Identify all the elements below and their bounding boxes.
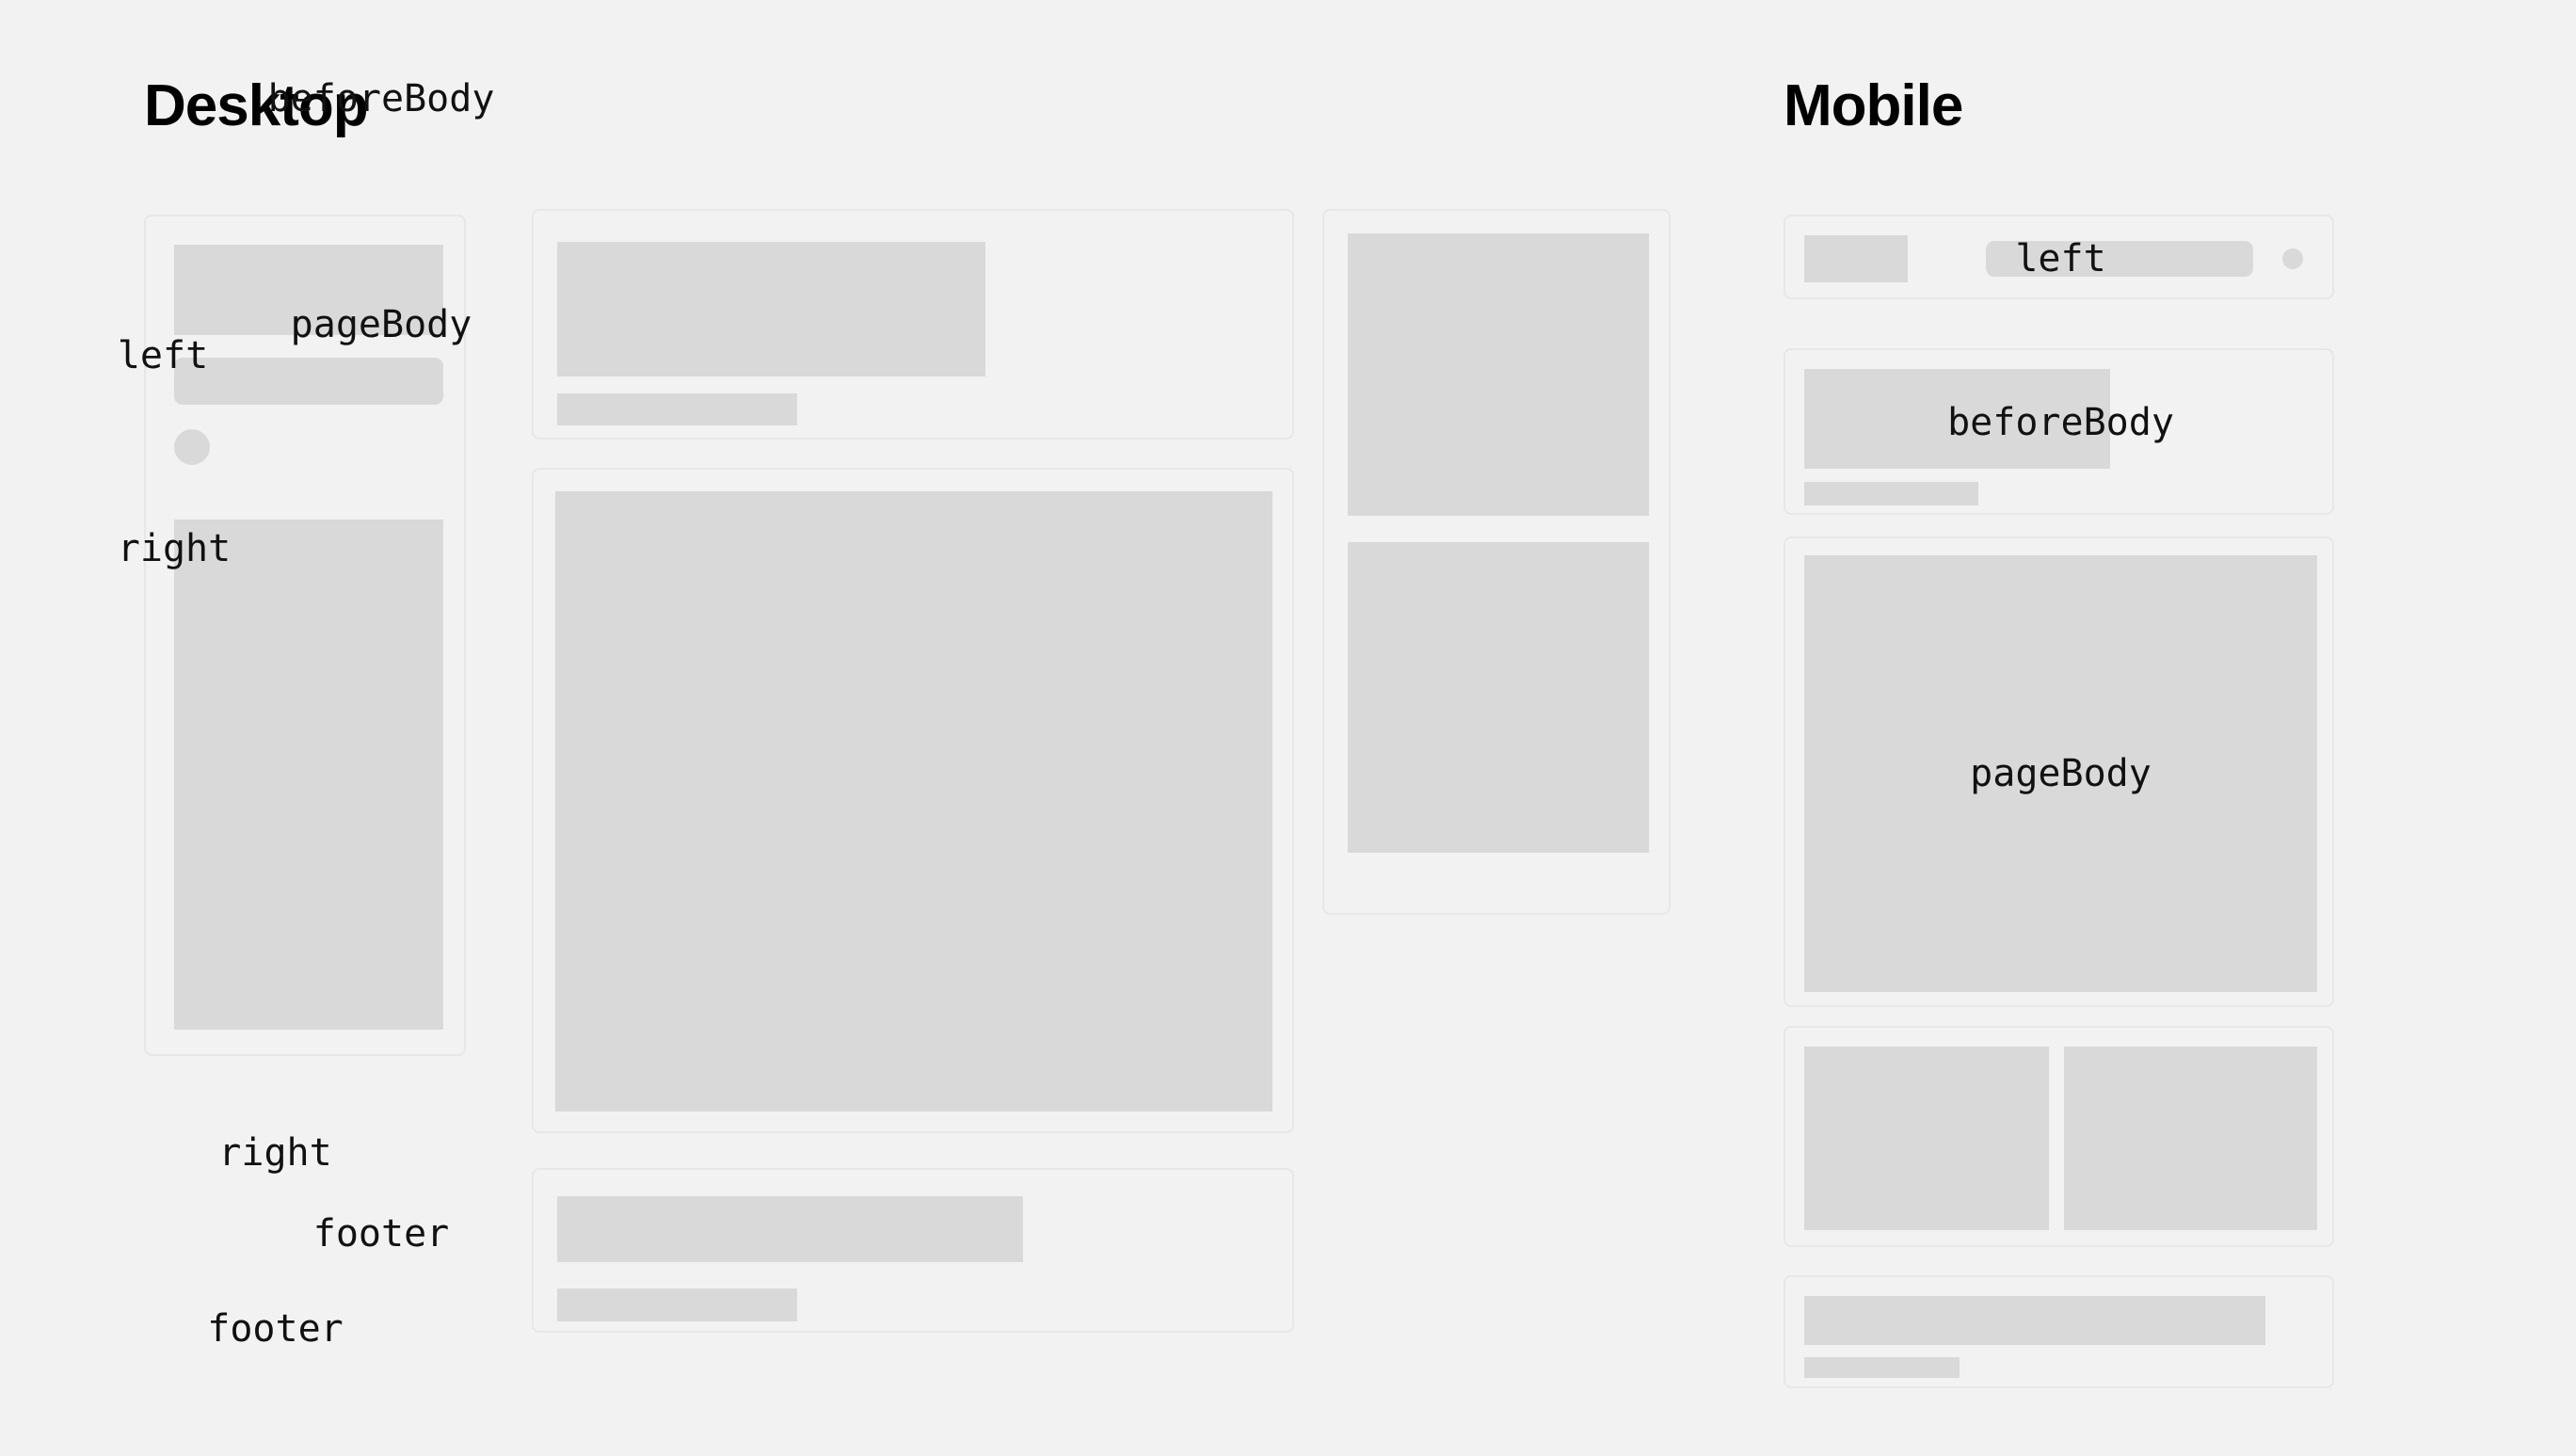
- desktop-left-panel[interactable]: [144, 215, 466, 1056]
- skeleton-block-image: [1804, 235, 1908, 282]
- mobile-right-panel[interactable]: [1784, 1026, 2334, 1247]
- skeleton-block-tall: [174, 520, 443, 1030]
- skeleton-block-small: [1804, 482, 1978, 505]
- desktop-beforebody-panel[interactable]: [532, 209, 1294, 440]
- skeleton-block-small: [557, 393, 797, 425]
- desktop-beforebody-region-label: beforeBody: [0, 80, 762, 118]
- wireframe-canvas: Desktop left beforeBody pageBody right f…: [0, 0, 2576, 1456]
- desktop-section-title: Desktop: [144, 77, 368, 136]
- mobile-section-title: Mobile: [1784, 77, 1962, 136]
- skeleton-block-body: [1804, 555, 2317, 992]
- skeleton-block-small: [1804, 1357, 1960, 1378]
- mobile-pagebody-panel[interactable]: pageBody: [1784, 536, 2334, 1007]
- desktop-right-panel[interactable]: [1322, 209, 1671, 915]
- skeleton-block-bar: [1986, 241, 2253, 277]
- skeleton-block-image: [174, 245, 443, 335]
- skeleton-block-bottom: [1348, 542, 1649, 853]
- desktop-pagebody-panel[interactable]: [532, 468, 1294, 1133]
- skeleton-avatar-circle: [174, 429, 210, 465]
- skeleton-block-body: [555, 491, 1272, 1112]
- skeleton-block-bar: [174, 358, 443, 405]
- skeleton-block-column-left: [1804, 1047, 2049, 1230]
- mobile-footer-region-label: footer: [0, 1310, 551, 1348]
- skeleton-block-large: [557, 242, 985, 376]
- skeleton-block-small: [557, 1288, 797, 1321]
- skeleton-block-large: [1804, 369, 2110, 469]
- skeleton-block-wide: [1804, 1296, 2265, 1345]
- mobile-footer-panel[interactable]: [1784, 1275, 2334, 1388]
- skeleton-block-wide: [557, 1196, 1023, 1262]
- mobile-left-panel[interactable]: left: [1784, 215, 2334, 299]
- skeleton-block-top: [1348, 233, 1649, 516]
- skeleton-block-column-right: [2064, 1047, 2317, 1230]
- skeleton-avatar-circle: [2282, 248, 2303, 269]
- mobile-beforebody-panel[interactable]: beforeBody: [1784, 348, 2334, 515]
- mobile-right-region-label: right: [0, 1134, 551, 1172]
- desktop-footer-panel[interactable]: [532, 1168, 1294, 1333]
